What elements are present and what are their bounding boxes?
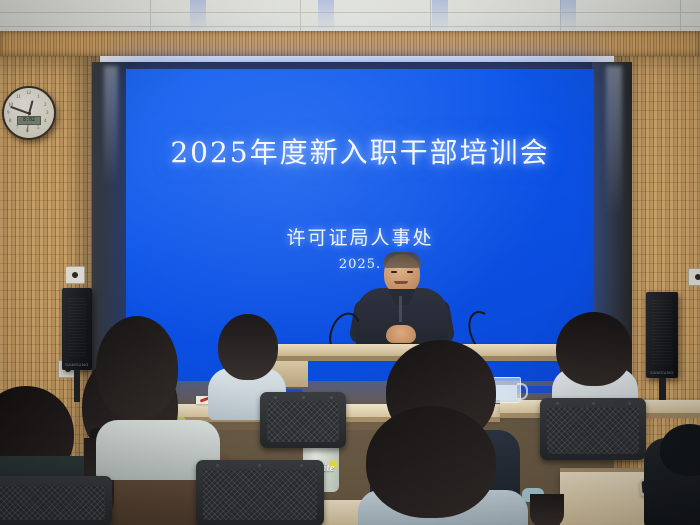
clock-numeral: 3	[46, 111, 49, 116]
mug-water-line	[493, 385, 517, 400]
presenter-eye-right	[407, 271, 413, 273]
audience-head-hair	[366, 406, 496, 518]
chair-mesh-panel	[203, 469, 317, 520]
slide-subtitle: 许可证局人事处	[126, 223, 594, 250]
presenter-clasped-hands	[386, 325, 416, 343]
speaker-brand-text: SAMSUNG	[62, 362, 92, 367]
chair-back	[196, 460, 324, 525]
clock-minute-hand	[10, 106, 29, 114]
clock-numeral: 8	[9, 119, 12, 124]
ponytail	[530, 494, 564, 525]
surround-sheen-right	[606, 66, 622, 216]
chair-mesh-panel	[0, 485, 105, 520]
slide-date: 2025.	[126, 257, 594, 272]
speaker-brand-text: SAMSUNG	[646, 370, 678, 375]
clock-numeral: 5	[37, 126, 40, 131]
ceiling	[0, 0, 700, 32]
ceiling-wood-slat-band	[0, 31, 700, 57]
presenter-mouth	[394, 281, 408, 284]
clock-digital-display: 8:02	[17, 116, 41, 125]
wall-clock: 12 1 2 3 4 5 6 7 8 9 10 11 8:02	[2, 86, 56, 140]
wall-socket	[65, 266, 85, 284]
clock-numeral: 2	[44, 103, 47, 108]
clock-numeral: 1	[37, 95, 40, 100]
chair-mesh-panel	[267, 401, 339, 442]
chair-back	[540, 398, 646, 460]
chair-back	[0, 476, 112, 525]
presenter-hair	[383, 252, 421, 268]
audience-head-hair	[96, 316, 178, 420]
audience-head-hair	[218, 314, 278, 380]
left-speaker-stand	[74, 370, 80, 402]
right-speaker: SAMSUNG	[646, 292, 678, 378]
presenter-eye-left	[391, 271, 397, 273]
presenter-shirt-placket	[399, 296, 402, 322]
conference-room-photo: 12 1 2 3 4 5 6 7 8 9 10 11 8:02 2025年度新入…	[0, 0, 700, 525]
chair-back	[260, 392, 346, 448]
slide-title: 2025年度新入职干部培训会	[126, 131, 594, 171]
surround-sheen-left	[104, 66, 118, 186]
clock-numeral: 9	[7, 111, 10, 116]
clock-center-pin	[28, 112, 31, 115]
chair-mesh-panel	[547, 407, 639, 454]
audience-head-hair	[556, 312, 632, 386]
clock-numeral: 7	[16, 126, 19, 131]
clock-numeral: 12	[26, 91, 31, 96]
clock-numeral: 11	[16, 95, 21, 100]
mug-handle	[517, 383, 528, 400]
left-speaker: SAMSUNG	[62, 288, 92, 370]
clock-numeral: 4	[44, 119, 47, 124]
wall-socket	[688, 268, 700, 286]
